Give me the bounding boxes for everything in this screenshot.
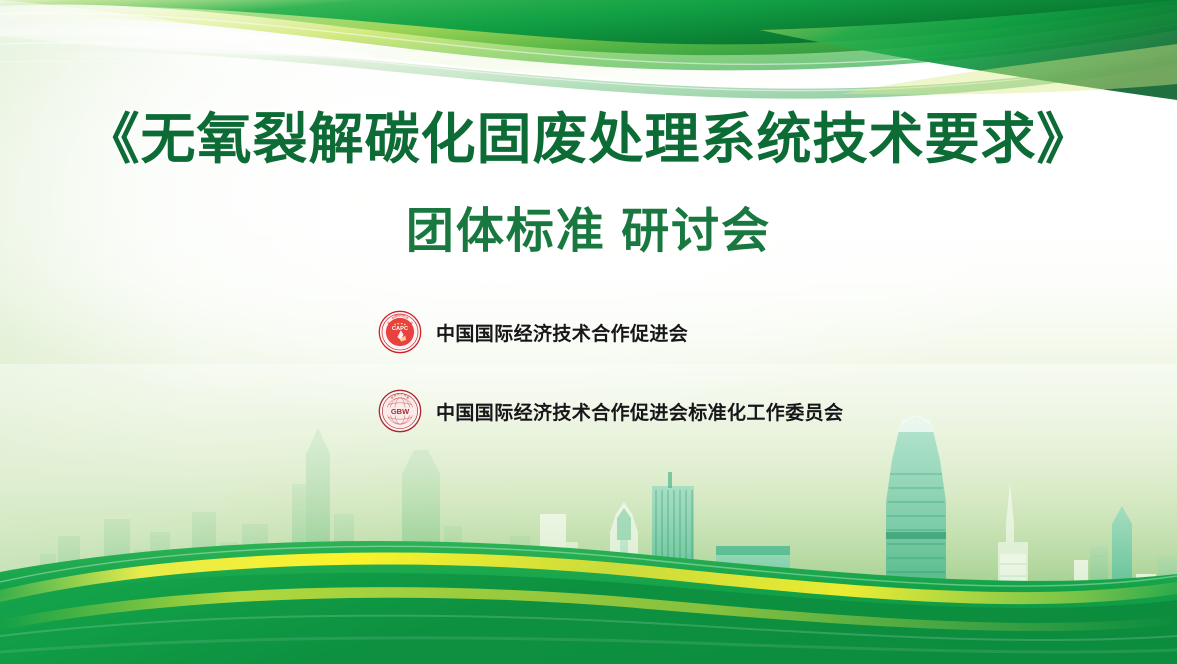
page-title: 《无氧裂解碳化固废处理系统技术要求》 (0, 108, 1177, 171)
organization-row: 中 国 国 际 经 济 进 技 (378, 308, 1078, 356)
gbw-seal-logo: 标 准 化 工 作 委 会 GBW (378, 389, 422, 433)
svg-text:CAPC: CAPC (392, 326, 408, 332)
organization-name: 中国国际经济技术合作促进会标准化工作委员会 (436, 398, 843, 425)
page-subtitle: 团体标准 研讨会 (0, 203, 1177, 261)
organization-list: 中 国 国 际 经 济 进 技 (378, 308, 1078, 466)
presentation-slide: 《无氧裂解碳化固废处理系统技术要求》 团体标准 研讨会 中 国 国 (0, 0, 1177, 664)
organization-name: 中国国际经济技术合作促进会 (436, 319, 688, 346)
capc-seal-logo: 中 国 国 际 经 济 进 技 (378, 310, 422, 354)
organization-row: 标 准 化 工 作 委 会 GBW 中国国际经济技术合作促进会标准化工作委 (378, 387, 1078, 435)
svg-text:GBW: GBW (391, 407, 410, 416)
